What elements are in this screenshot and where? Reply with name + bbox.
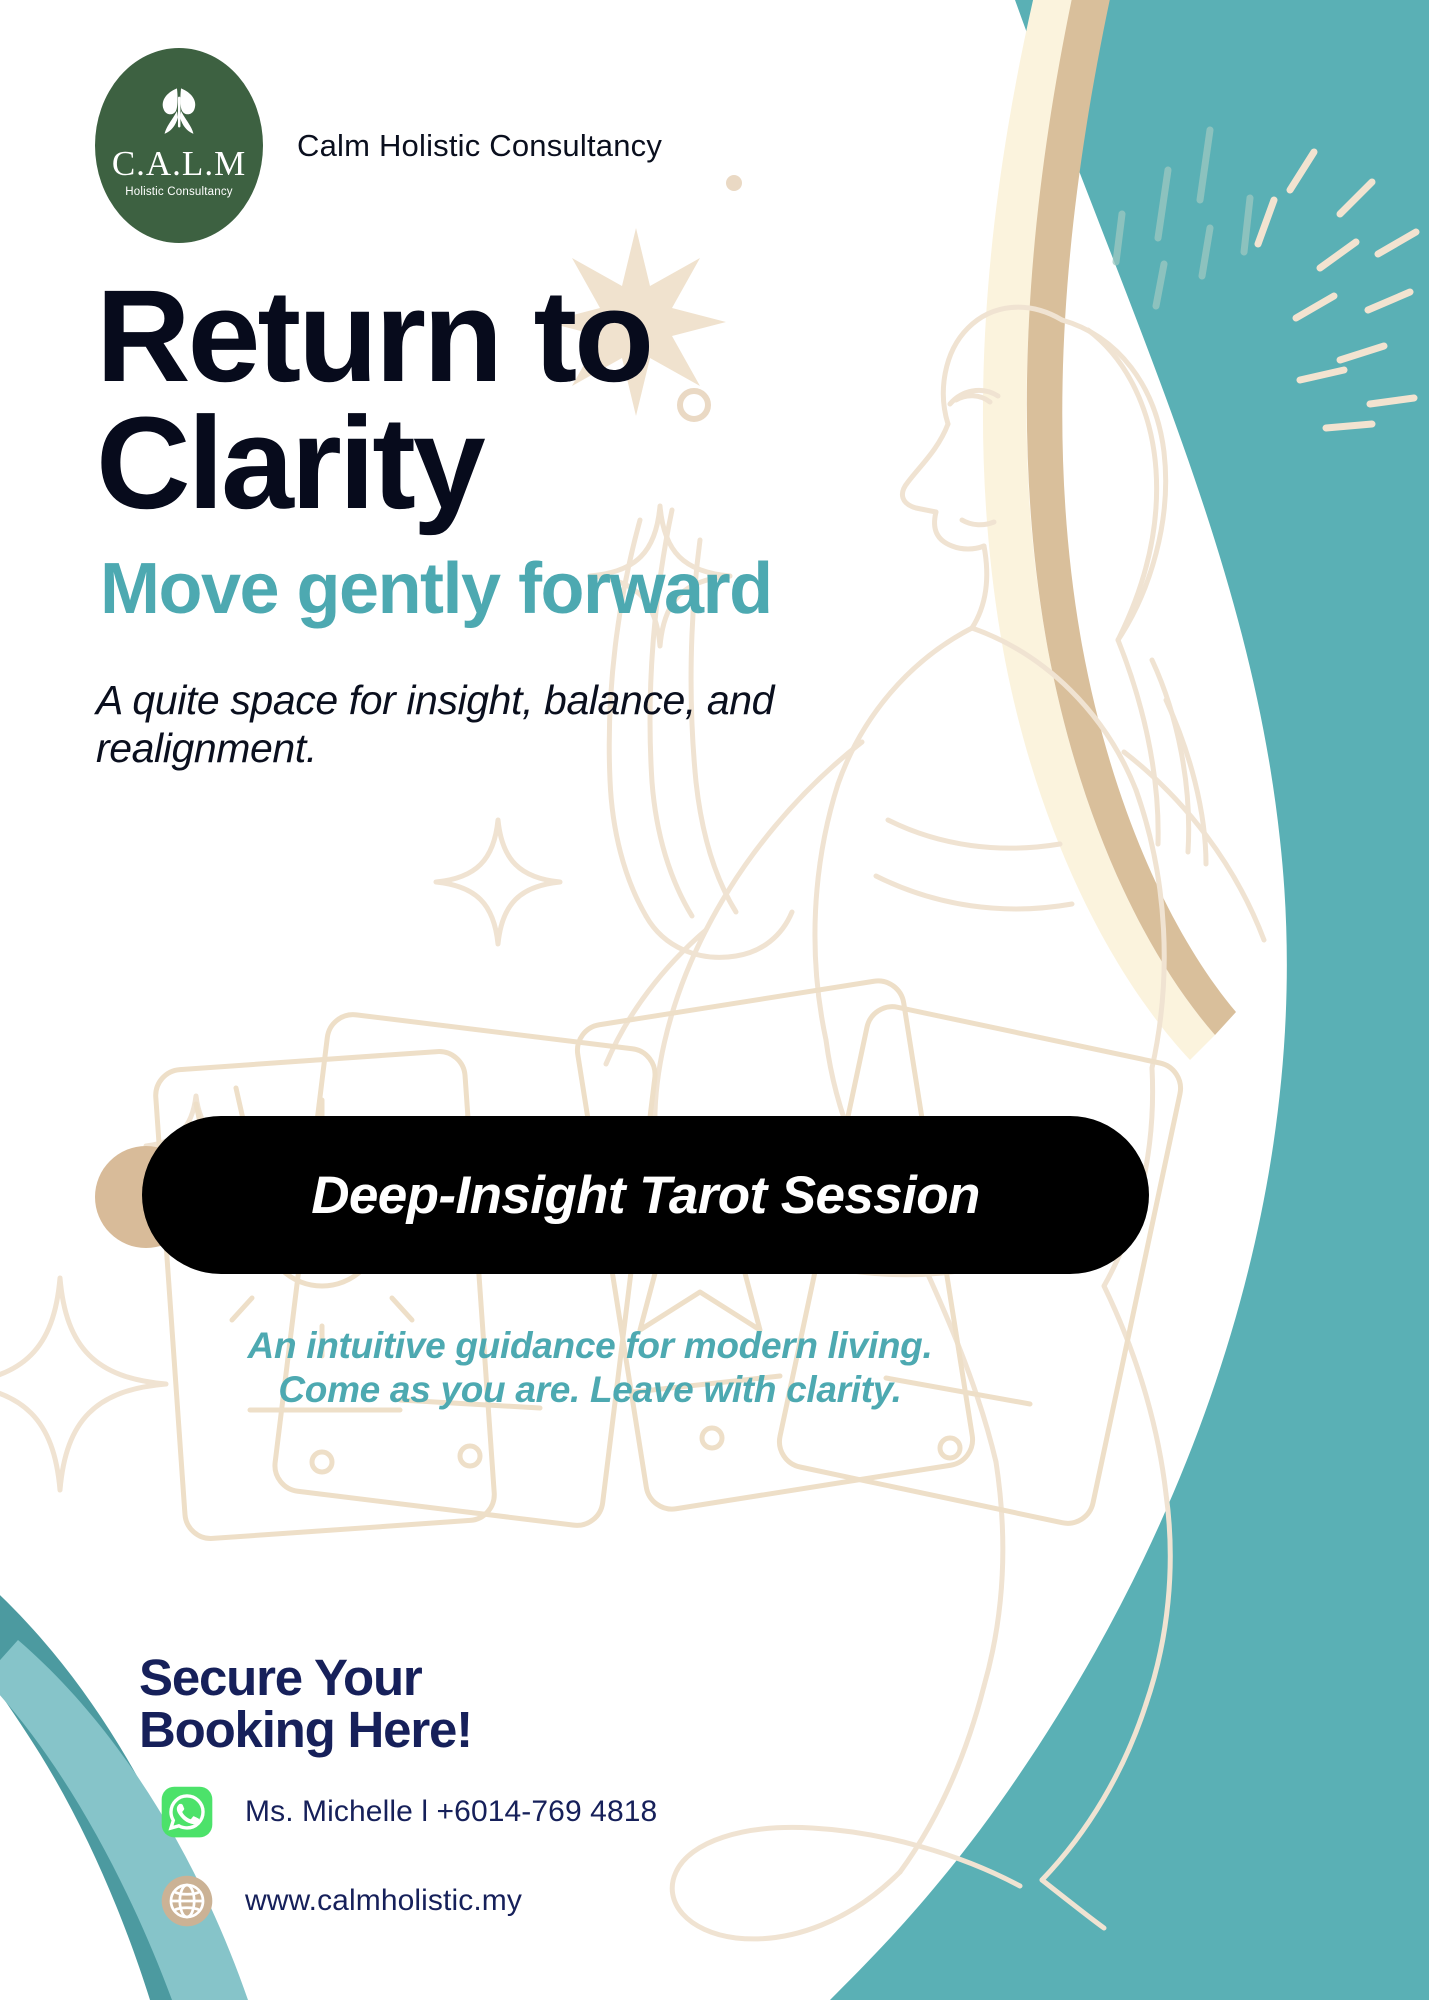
poster-canvas: C.A.L.M Holistic Consultancy Calm Holist…: [0, 0, 1429, 2000]
offer-subtext-line-1: An intuitive guidance for modern living.: [0, 1324, 1180, 1368]
contact-row-whatsapp[interactable]: Ms. Michelle l +6014-769 4818: [160, 1785, 657, 1839]
offer-subtext-line-2: Come as you are. Leave with clarity.: [0, 1368, 1180, 1412]
contact-row-website[interactable]: www.calmholistic.my: [160, 1874, 522, 1928]
butterfly-leaf-icon: [146, 78, 212, 144]
logo-badge: C.A.L.M Holistic Consultancy: [95, 48, 263, 243]
logo-tagline: Holistic Consultancy: [125, 186, 233, 198]
offer-pill-label: Deep-Insight Tarot Session: [311, 1165, 980, 1226]
subheadline: Move gently forward: [100, 552, 1100, 628]
whatsapp-icon: [160, 1785, 214, 1839]
booking-title-line-2: Booking Here!: [139, 1704, 759, 1756]
page-title: Return to Clarity: [96, 272, 996, 526]
logo-initials: C.A.L.M: [112, 146, 246, 181]
offer-pill[interactable]: Deep-Insight Tarot Session: [142, 1116, 1149, 1274]
brand-name: Calm Holistic Consultancy: [297, 128, 662, 164]
brand-header: C.A.L.M Holistic Consultancy Calm Holist…: [95, 48, 662, 243]
tagline-text: A quite space for insight, balance, and …: [96, 676, 996, 773]
content-layer: C.A.L.M Holistic Consultancy Calm Holist…: [0, 0, 1429, 2000]
offer-subtext: An intuitive guidance for modern living.…: [0, 1324, 1180, 1413]
booking-title-line-1: Secure Your: [139, 1652, 759, 1704]
offer-pill-wrapper: Deep-Insight Tarot Session: [95, 1116, 1155, 1278]
globe-icon: [160, 1874, 214, 1928]
headline-line-2: Clarity: [96, 399, 996, 526]
headline-line-1: Return to: [96, 262, 651, 409]
contact-text-website: www.calmholistic.my: [245, 1884, 522, 1918]
booking-title: Secure Your Booking Here!: [139, 1652, 759, 1756]
contact-text-whatsapp: Ms. Michelle l +6014-769 4818: [245, 1795, 657, 1829]
